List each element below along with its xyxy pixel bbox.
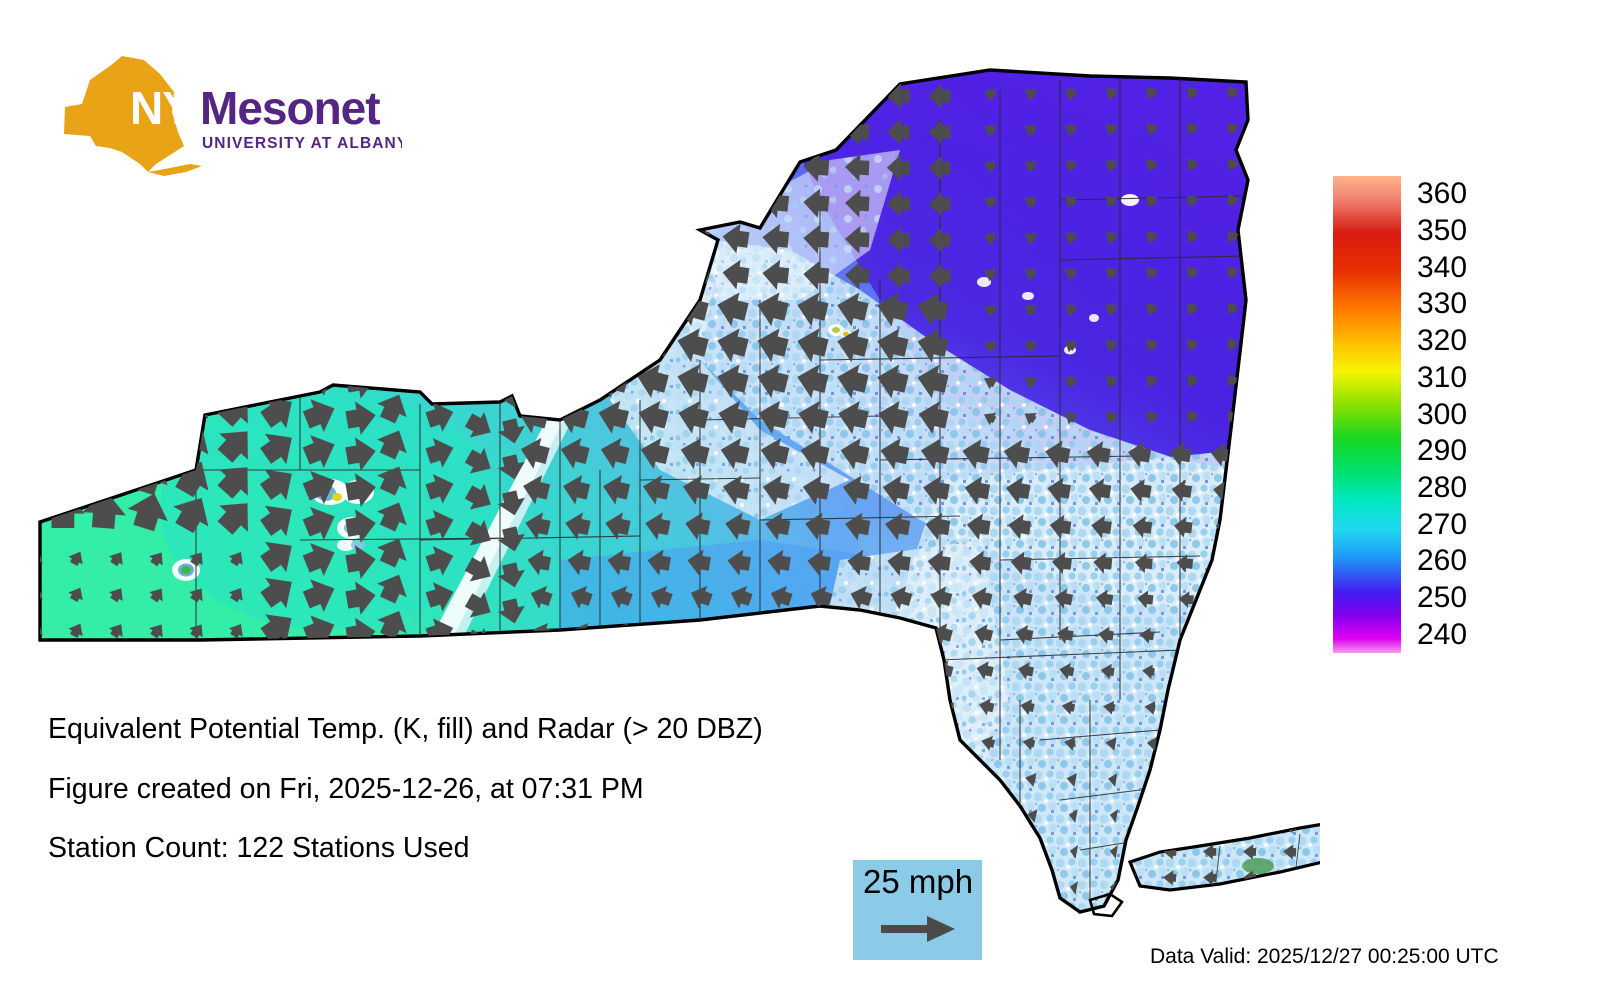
- wind-arrow-icon: [257, 245, 301, 290]
- wind-arrow-icon: [41, 418, 85, 456]
- wind-arrow-icon: [496, 633, 528, 663]
- wind-arrow-icon: [46, 207, 84, 240]
- wind-arrow-icon: [815, 694, 836, 717]
- wind-arrow-icon: [213, 241, 260, 288]
- colorbar-tick-300: 300: [1417, 400, 1467, 430]
- wind-arrow-icon: [1189, 808, 1197, 823]
- wind-arrow-icon: [214, 206, 260, 251]
- wind-arrow-icon: [496, 237, 528, 266]
- wind-arrow-icon: [519, 183, 552, 219]
- wind-arrow-icon: [302, 179, 339, 219]
- wind-arrow-icon: [1229, 917, 1237, 931]
- wind-arrow-icon: [496, 273, 528, 302]
- wind-arrow-icon: [257, 210, 300, 254]
- wind-arrow-icon: [301, 250, 340, 292]
- colorbar-tick-260: 260: [1417, 546, 1467, 576]
- wind-arrow-icon: [553, 287, 591, 328]
- wind-arrow-icon: [346, 184, 377, 219]
- wind-arrow-icon: [720, 113, 750, 147]
- wind-arrow-icon: [462, 335, 498, 373]
- colorbar-tick-240: 240: [1417, 620, 1467, 650]
- wind-arrow-icon: [347, 78, 376, 110]
- wind-arrow-icon: [301, 214, 339, 255]
- wind-arrow-icon: [496, 669, 528, 698]
- wind-arrow-icon: [8, 172, 45, 204]
- wind-arrow-icon: [173, 135, 216, 176]
- wind-arrow-icon: [126, 274, 173, 318]
- wind-arrow-icon: [729, 619, 755, 647]
- wind-arrow-icon: [1229, 737, 1237, 751]
- wind-arrow-icon: [1189, 772, 1197, 787]
- wind-arrow-icon: [425, 147, 457, 181]
- wind-scale-label: 25 mph: [863, 862, 973, 902]
- wind-arrow-icon: [425, 111, 456, 145]
- wind-arrow-icon: [125, 309, 173, 354]
- colorbar-tick-270: 270: [1417, 510, 1467, 540]
- wind-arrow-icon: [497, 921, 528, 949]
- wind-arrow-icon: [43, 312, 85, 348]
- wind-arrow-icon: [67, 692, 88, 712]
- wind-arrow-icon: [769, 619, 795, 646]
- wind-arrow-icon: [26, 728, 46, 747]
- wind-arrow-icon: [52, 69, 83, 96]
- wind-arrow-icon: [41, 383, 84, 420]
- wind-arrow-icon: [107, 908, 128, 929]
- colorbar-tick-340: 340: [1417, 253, 1467, 283]
- wind-arrow-icon: [147, 692, 168, 713]
- wind-arrow-icon: [374, 245, 413, 282]
- wind-arrow-icon: [304, 902, 337, 937]
- wind-arrow-icon: [256, 280, 301, 326]
- wind-arrow-icon: [1028, 916, 1038, 931]
- wind-arrow-icon: [374, 677, 414, 714]
- wind-arrow-icon: [82, 381, 128, 421]
- wind-arrow-icon: [761, 150, 790, 183]
- wind-arrow-icon: [1149, 916, 1158, 931]
- wind-arrow-icon: [463, 156, 497, 192]
- wind-arrow-icon: [91, 103, 126, 134]
- wind-arrow-icon: [462, 659, 498, 696]
- wind-arrow-icon: [374, 210, 412, 246]
- wind-arrow-icon: [890, 620, 915, 647]
- wind-arrow-icon: [519, 219, 552, 255]
- wind-arrow-icon: [26, 692, 46, 711]
- wind-arrow-icon: [4, 277, 45, 312]
- wind-arrow-icon: [374, 281, 414, 319]
- wind-arrow-icon: [344, 327, 378, 364]
- wind-arrow-icon: [844, 81, 869, 110]
- wind-arrow-icon: [1283, 792, 1297, 808]
- wind-arrow-icon: [559, 75, 592, 111]
- wind-arrow-icon: [802, 115, 830, 146]
- wind-arrow-icon: [215, 171, 259, 215]
- wind-arrow-icon: [513, 359, 551, 401]
- wind-arrow-icon: [708, 915, 719, 931]
- wind-arrow-icon: [227, 908, 248, 928]
- wind-arrow-icon: [462, 228, 497, 265]
- wind-arrow-icon: [1149, 808, 1158, 823]
- wind-arrow-icon: [26, 836, 46, 855]
- wind-arrow-icon: [600, 75, 632, 110]
- wind-arrow-icon: [513, 287, 551, 329]
- wind-arrow-icon: [373, 352, 414, 391]
- wind-arrow-icon: [83, 346, 128, 386]
- wind-arrow-icon: [261, 70, 298, 108]
- wind-arrow-icon: [497, 129, 528, 157]
- wind-arrow-icon: [1243, 818, 1257, 834]
- wind-arrow-icon: [41, 454, 85, 492]
- wind-arrow-icon: [1189, 916, 1197, 931]
- wind-arrow-icon: [67, 908, 88, 928]
- wind-arrow-icon: [134, 66, 171, 100]
- wind-arrow-icon: [600, 219, 632, 254]
- wind-arrow-icon: [373, 641, 413, 679]
- wind-arrow-icon: [809, 619, 834, 646]
- wind-arrow-icon: [1163, 792, 1177, 808]
- wind-arrow-icon: [1185, 700, 1196, 715]
- wind-arrow-icon: [3, 312, 45, 348]
- wind-arrow-icon: [256, 316, 302, 363]
- wind-arrow-icon: [519, 75, 552, 111]
- wind-arrow-icon: [48, 172, 85, 204]
- wind-arrow-icon: [828, 915, 839, 930]
- wind-arrow-icon: [1028, 844, 1038, 859]
- wind-arrow-icon: [984, 807, 997, 823]
- wind-arrow-icon: [42, 347, 85, 384]
- wind-arrow-icon: [375, 139, 412, 174]
- wind-arrow-icon: [600, 255, 632, 290]
- wind-arrow-icon: [761, 78, 790, 111]
- wind-arrow-icon: [496, 345, 528, 374]
- wind-arrow-icon: [1203, 792, 1217, 808]
- wind-arrow-icon: [496, 309, 528, 338]
- wind-arrow-icon: [373, 316, 413, 354]
- wind-arrow-icon: [1069, 916, 1078, 931]
- wind-arrow-icon: [497, 93, 528, 121]
- wind-arrow-icon: [1203, 818, 1217, 834]
- wind-arrow-icon: [227, 656, 248, 676]
- wind-arrow-icon: [640, 256, 671, 291]
- wind-arrow-icon: [559, 255, 592, 291]
- wind-arrow-icon: [987, 843, 998, 859]
- wind-arrow-icon: [1220, 591, 1234, 608]
- wind-arrow-icon: [1188, 736, 1197, 751]
- wind-arrow-icon: [1163, 818, 1177, 834]
- wind-arrow-icon: [553, 323, 591, 365]
- wind-arrow-icon: [211, 347, 261, 397]
- wind-arrow-icon: [612, 656, 636, 681]
- wind-arrow-icon: [212, 276, 260, 324]
- colorbar-tick-320: 320: [1417, 326, 1467, 356]
- colorbar-gradient: [1333, 176, 1401, 653]
- wind-arrow-icon: [125, 344, 174, 390]
- wind-arrow-icon: [169, 274, 218, 321]
- wind-arrow-icon: [302, 144, 338, 182]
- wind-arrow-icon: [680, 77, 711, 111]
- wind-arrow-icon: [26, 872, 46, 891]
- wind-arrow-icon: [26, 764, 46, 783]
- wind-arrow-icon: [6, 207, 44, 240]
- wind-arrow-icon: [1227, 701, 1236, 715]
- wind-arrow-icon: [345, 291, 378, 328]
- colorbar-tick-labels: 360350340330320310300290280270260250240: [1417, 156, 1577, 673]
- wind-arrow-icon: [572, 656, 596, 681]
- wind-arrow-icon: [86, 206, 126, 241]
- wind-arrow-icon: [11, 104, 44, 132]
- wind-arrow-icon: [772, 657, 795, 682]
- wind-arrow-icon: [85, 241, 127, 278]
- wind-arrow-icon: [689, 619, 715, 647]
- wind-arrow-icon: [812, 657, 835, 682]
- wind-arrow-icon: [255, 351, 302, 399]
- colorbar-tick-250: 250: [1417, 583, 1467, 613]
- colorbar-tick-360: 360: [1417, 179, 1467, 209]
- wind-arrow-icon: [775, 694, 796, 717]
- wind-arrow-icon: [1, 383, 44, 420]
- wind-arrow-icon: [168, 345, 219, 394]
- wind-arrow-icon: [424, 325, 458, 362]
- wind-arrow-east-icon: [881, 912, 957, 946]
- wind-arrow-icon: [424, 290, 458, 327]
- wind-arrow-icon: [680, 221, 711, 255]
- wind-arrow-icon: [593, 287, 631, 328]
- wind-arrow-icon: [513, 323, 551, 365]
- wind-arrow-icon: [83, 311, 127, 350]
- wind-arrow-icon: [124, 380, 174, 426]
- caption-block: Equivalent Potential Temp. (K, fill) and…: [48, 715, 948, 894]
- wind-arrow-icon: [559, 111, 592, 147]
- wind-arrow-icon: [988, 916, 998, 931]
- wind-arrow-icon: [668, 915, 679, 931]
- wind-arrow-icon: [1225, 664, 1236, 679]
- wind-scale-legend: 25 mph: [853, 860, 982, 960]
- wind-arrow-icon: [640, 220, 671, 255]
- wind-arrow-icon: [1229, 809, 1237, 823]
- wind-arrow-icon: [628, 915, 639, 931]
- wind-arrow-icon: [1217, 554, 1234, 573]
- wind-arrow-icon: [26, 656, 46, 675]
- wind-arrow-icon: [463, 912, 496, 946]
- wind-arrow-icon: [1183, 664, 1196, 679]
- wind-arrow-icon: [174, 101, 215, 140]
- wind-arrow-icon: [9, 138, 44, 168]
- wind-arrow-icon: [344, 651, 378, 688]
- wind-arrow-icon: [345, 220, 377, 256]
- wind-arrow-icon: [168, 309, 218, 357]
- wind-arrow-icon: [51, 104, 84, 132]
- wind-arrow-icon: [633, 288, 671, 329]
- station-count-label: Station Count: 122 Stations Used: [48, 834, 948, 863]
- wind-arrow-icon: [519, 147, 552, 183]
- wind-arrow-icon: [128, 204, 172, 245]
- wind-arrow-icon: [45, 242, 85, 276]
- wind-arrow-icon: [132, 101, 171, 137]
- wind-arrow-icon: [1109, 916, 1118, 931]
- wind-arrow-icon: [720, 149, 750, 183]
- wind-arrow-icon: [131, 135, 172, 173]
- wind-arrow-icon: [2, 347, 45, 384]
- wind-arrow-icon: [692, 656, 716, 681]
- wind-arrow-icon: [1222, 628, 1235, 643]
- wind-arrow-icon: [300, 645, 340, 688]
- wind-arrow-icon: [88, 171, 127, 205]
- wind-arrow-icon: [377, 897, 412, 930]
- wind-arrow-icon: [680, 113, 711, 147]
- wind-arrow-icon: [376, 104, 412, 138]
- wind-arrow-icon: [1, 418, 45, 456]
- wind-arrow-icon: [462, 192, 497, 228]
- wind-arrow-icon: [187, 908, 208, 929]
- wind-arrow-icon: [12, 69, 43, 96]
- wind-arrow-icon: [600, 111, 632, 146]
- wind-arrow-icon: [532, 656, 555, 681]
- wind-arrow-icon: [788, 915, 799, 931]
- wind-arrow-icon: [227, 692, 248, 712]
- wind-arrow-icon: [463, 84, 496, 119]
- wind-arrow-icon: [259, 140, 299, 181]
- wind-arrow-icon: [720, 185, 750, 219]
- wind-arrow-icon: [375, 175, 413, 211]
- wind-arrow-icon: [640, 76, 671, 111]
- wind-arrow-icon: [147, 656, 168, 677]
- wind-arrow-icon: [720, 77, 750, 111]
- wind-arrow-icon: [424, 254, 457, 290]
- wind-arrow-icon: [600, 183, 632, 218]
- wind-arrow-icon: [1229, 773, 1237, 787]
- wind-arrow-icon: [347, 906, 375, 937]
- wind-arrow-icon: [260, 105, 299, 145]
- colorbar-tick-310: 310: [1417, 363, 1467, 393]
- wind-arrow-icon: [423, 361, 458, 398]
- wind-arrow-icon: [171, 204, 217, 248]
- wind-arrow-icon: [44, 277, 85, 312]
- wind-arrow-icon: [988, 880, 998, 895]
- figure-created-timestamp: Figure created on Fri, 2025-12-26, at 07…: [48, 775, 948, 804]
- wind-arrow-icon: [170, 239, 218, 285]
- wind-arrow-icon: [300, 285, 340, 328]
- wind-arrow-icon: [463, 120, 497, 155]
- wind-arrow-icon: [1028, 880, 1038, 895]
- wind-arrow-icon: [850, 620, 875, 647]
- wind-arrow-icon: [256, 640, 302, 687]
- wind-arrow-icon: [84, 276, 127, 314]
- wind-arrow-icon: [303, 109, 338, 146]
- wind-arrow-icon: [424, 183, 456, 218]
- wind-arrow-icon: [175, 66, 214, 103]
- wind-arrow-icon: [424, 218, 457, 254]
- wind-arrow-icon: [81, 453, 127, 494]
- colorbar-tick-280: 280: [1417, 473, 1467, 503]
- wind-arrow-icon: [652, 656, 676, 681]
- wind-arrow-icon: [802, 79, 830, 110]
- wind-arrow-icon: [1, 454, 45, 492]
- wind-arrow-icon: [732, 656, 756, 681]
- wind-arrow-icon: [852, 657, 875, 682]
- wind-arrow-icon: [559, 219, 592, 255]
- wind-arrow-icon: [300, 321, 341, 364]
- wind-arrow-icon: [345, 256, 378, 292]
- wind-arrow-icon: [377, 69, 412, 102]
- wind-arrow-icon: [217, 102, 258, 142]
- wind-arrow-icon: [172, 170, 217, 213]
- wind-arrow-icon: [107, 656, 128, 677]
- wind-arrow-icon: [640, 112, 671, 147]
- wind-arrow-icon: [5, 242, 45, 276]
- wind-arrow-icon: [346, 149, 376, 183]
- wind-arrow-icon: [640, 148, 671, 183]
- wind-arrow-icon: [346, 114, 376, 147]
- data-valid-timestamp: Data Valid: 2025/12/27 00:25:00 UTC: [1150, 945, 1499, 969]
- wind-arrow-icon: [761, 114, 790, 147]
- wind-arrow-icon: [129, 170, 172, 210]
- wind-arrow-icon: [93, 68, 126, 97]
- wind-arrow-icon: [553, 359, 591, 401]
- wind-arrow-icon: [187, 656, 208, 677]
- wind-arrow-icon: [593, 323, 631, 364]
- wind-arrow-icon: [559, 147, 592, 183]
- wind-arrow-icon: [127, 239, 173, 282]
- wind-arrow-icon: [261, 898, 297, 935]
- wind-arrow-icon: [496, 201, 528, 230]
- wind-arrow-icon: [26, 800, 46, 819]
- colorbar-tick-350: 350: [1417, 216, 1467, 246]
- wind-arrow-icon: [89, 137, 126, 169]
- wind-arrow-icon: [600, 147, 632, 182]
- wind-arrow-icon: [892, 657, 915, 682]
- wind-arrow-icon: [548, 915, 559, 931]
- wind-arrow-icon: [216, 137, 258, 179]
- wind-arrow-icon: [895, 695, 916, 717]
- wind-arrow-icon: [258, 175, 300, 218]
- figure-title: Equivalent Potential Temp. (K, fill) and…: [48, 715, 948, 744]
- wind-arrow-icon: [462, 264, 497, 301]
- wind-arrow-icon: [67, 656, 88, 676]
- wind-arrow-icon: [748, 915, 759, 931]
- wind-arrow-icon: [1243, 792, 1257, 808]
- wind-arrow-icon: [462, 299, 498, 336]
- wind-arrow-icon: [218, 67, 257, 106]
- wind-arrow-icon: [425, 904, 455, 937]
- wind-arrow-icon: [855, 694, 876, 717]
- wind-arrow-icon: [424, 650, 458, 687]
- wind-arrow-icon: [187, 692, 208, 713]
- wind-arrow-icon: [640, 184, 671, 219]
- wind-arrow-icon: [303, 73, 337, 109]
- wind-arrow-icon: [147, 908, 168, 929]
- wind-arrow-icon: [212, 312, 261, 361]
- wind-arrow-icon: [680, 149, 711, 183]
- wind-arrow-icon: [588, 915, 599, 931]
- wind-arrow-icon: [26, 908, 46, 927]
- wind-arrow-icon: [519, 255, 552, 291]
- wind-arrow-icon: [49, 138, 84, 168]
- wind-arrow-icon: [497, 165, 528, 194]
- wind-arrow-icon: [680, 185, 711, 219]
- colorbar-tick-330: 330: [1417, 289, 1467, 319]
- wind-arrow-icon: [519, 111, 552, 147]
- wind-arrow-icon: [124, 415, 175, 462]
- wind-arrow-icon: [82, 417, 128, 458]
- wind-arrow-icon: [559, 183, 592, 219]
- colorbar-tick-290: 290: [1417, 436, 1467, 466]
- colorbar: 360350340330320310300290280270260250240: [1333, 176, 1583, 656]
- wind-arrow-icon: [107, 692, 128, 713]
- wind-arrow-icon: [425, 76, 456, 109]
